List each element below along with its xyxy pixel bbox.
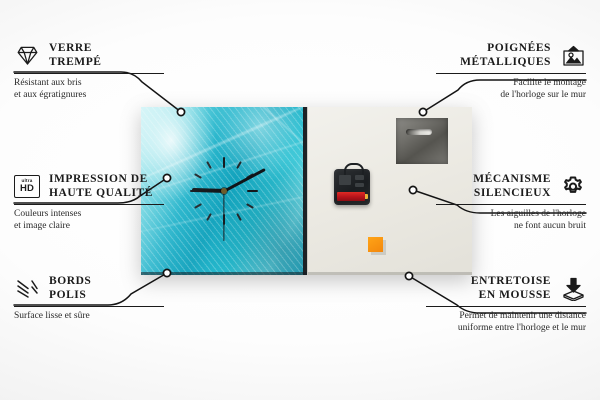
clock-front-panel <box>141 107 307 275</box>
feature-subtitle-line1: Facilite le montage <box>513 78 586 88</box>
battery <box>337 192 365 201</box>
feature-header: VERRE TREMPÉ <box>14 42 164 69</box>
feature-title-line2: EN MOUSSE <box>479 289 551 301</box>
feature-title: IMPRESSION DE HAUTE QUALITÉ <box>49 173 153 200</box>
feature-title-line2: HAUTE QUALITÉ <box>49 187 153 199</box>
feature-title-line2: MÉTALLIQUES <box>460 56 551 68</box>
ultra-hd-large-text: HD <box>20 184 34 194</box>
feature-subtitle: Résistant aux bris et aux égratignures <box>14 78 164 101</box>
mechanism-detail <box>355 183 364 187</box>
mechanism-detail <box>355 175 364 180</box>
feature-header: ENTRETOISE EN MOUSSE <box>426 275 586 302</box>
foam-spacer <box>368 237 383 252</box>
foam-spacer-icon <box>560 277 586 301</box>
gear-icon <box>560 175 586 199</box>
quartz-mechanism <box>334 169 370 205</box>
feature-divider <box>426 306 586 307</box>
feature-subtitle-line2: et aux égratignures <box>14 90 86 100</box>
product-image <box>141 107 471 275</box>
feature-title: ENTRETOISE EN MOUSSE <box>471 275 551 302</box>
feature-title-line2: SILENCIEUX <box>474 187 551 199</box>
feature-header: POIGNÉES MÉTALLIQUES <box>436 42 586 69</box>
feature-header: MÉCANISME SILENCIEUX <box>436 173 586 200</box>
feature-divider <box>436 204 586 205</box>
mechanism-hanging-loop <box>344 163 364 175</box>
feature-subtitle-line1: Couleurs intenses <box>14 209 81 219</box>
feature-title: BORDS POLIS <box>49 275 91 302</box>
feature-entretoise-en-mousse: ENTRETOISE EN MOUSSE Permet de maintenir… <box>426 275 586 334</box>
infographic-root: VERRE TREMPÉ Résistant aux bris et aux é… <box>0 0 600 400</box>
polished-edges-icon <box>14 277 40 301</box>
feature-subtitle-line1: Les aiguilles de l'horloge <box>491 209 586 219</box>
feature-title-line1: POIGNÉES <box>487 42 551 54</box>
feature-divider <box>436 73 586 74</box>
feature-verre-trempe: VERRE TREMPÉ Résistant aux bris et aux é… <box>14 42 164 101</box>
feature-title-line1: BORDS <box>49 275 91 287</box>
feature-poignees-metalliques: POIGNÉES MÉTALLIQUES Facilite le montage… <box>436 42 586 101</box>
metal-hanger-plate <box>396 118 448 164</box>
feature-title-line1: ENTRETOISE <box>471 275 551 287</box>
diamond-icon <box>14 44 40 68</box>
ultra-hd-icon: ultra HD <box>14 175 40 199</box>
feature-impression-haute-qualite: ultra HD IMPRESSION DE HAUTE QUALITÉ Cou… <box>14 173 164 232</box>
feature-subtitle-line1: Permet de maintenir une distance <box>459 311 586 321</box>
feature-divider <box>14 73 164 74</box>
feature-title-line2: POLIS <box>49 289 86 301</box>
feature-header: ultra HD IMPRESSION DE HAUTE QUALITÉ <box>14 173 164 200</box>
clock-center-hub <box>221 188 227 194</box>
feature-title-line1: MÉCANISME <box>473 173 551 185</box>
feature-title: VERRE TREMPÉ <box>49 42 102 69</box>
feature-title-line1: IMPRESSION DE <box>49 173 148 185</box>
feature-title-line2: TREMPÉ <box>49 56 102 68</box>
feature-mecanisme-silencieux: MÉCANISME SILENCIEUX Les aiguilles de l'… <box>436 173 586 232</box>
feature-subtitle: Permet de maintenir une distance uniform… <box>426 311 586 334</box>
feature-subtitle-line2: de l'horloge sur le mur <box>500 90 586 100</box>
feature-subtitle-line1: Résistant aux bris <box>14 78 82 88</box>
feature-title: POIGNÉES MÉTALLIQUES <box>460 42 551 69</box>
hanger-slot <box>406 129 432 135</box>
wall-frame-hanger-icon <box>560 44 586 68</box>
feature-subtitle: Surface lisse et sûre <box>14 311 164 323</box>
feature-subtitle-line2: ne font aucun bruit <box>514 221 586 231</box>
feature-bords-polis: BORDS POLIS Surface lisse et sûre <box>14 275 164 323</box>
feature-divider <box>14 204 164 205</box>
feature-subtitle-line2: et image claire <box>14 221 70 231</box>
feature-subtitle: Les aiguilles de l'horloge ne font aucun… <box>436 209 586 232</box>
feature-subtitle: Couleurs intenses et image claire <box>14 209 164 232</box>
feature-title: MÉCANISME SILENCIEUX <box>473 173 551 200</box>
feature-subtitle-line2: uniforme entre l'horloge et le mur <box>458 323 586 333</box>
feature-header: BORDS POLIS <box>14 275 164 302</box>
feature-subtitle-line1: Surface lisse et sûre <box>14 311 90 321</box>
panel-edge-bottom <box>141 272 307 275</box>
feature-title-line1: VERRE <box>49 42 92 54</box>
feature-subtitle: Facilite le montage de l'horloge sur le … <box>436 78 586 101</box>
feature-divider <box>14 306 164 307</box>
mechanism-detail <box>339 175 351 185</box>
